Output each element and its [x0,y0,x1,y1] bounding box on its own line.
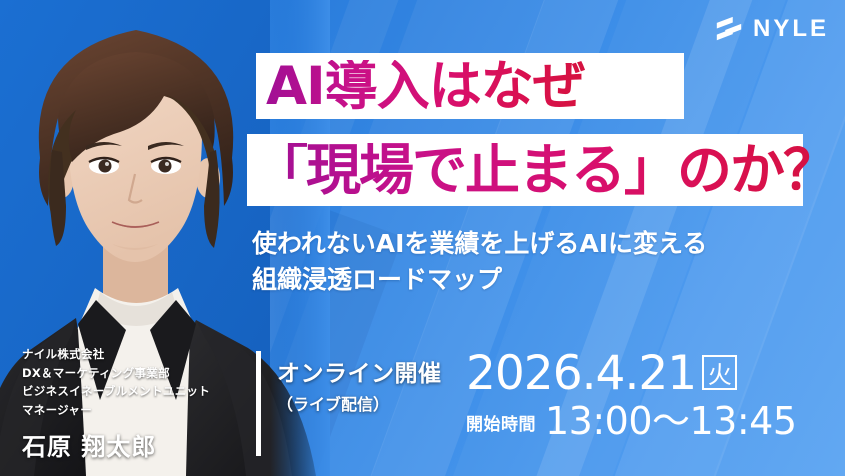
nyle-n-mark-icon [714,14,744,44]
speaker-name: 石原 翔太郎 [22,427,210,462]
speaker-info: ナイル株式会社 DX＆マーケティング事業部 ビジネスイネーブルメントユニット マ… [22,345,210,462]
speaker-division: DX＆マーケティング事業部 [22,364,210,383]
subtitle: 使われないAIを業績を上げるAIに変える 組織浸透ロードマップ [252,226,707,299]
event-datetime: 2026.4.21 火 開始時間 13:00〜13:45 [466,350,797,440]
title-line-1-box: AI導入はなぜ [256,53,684,119]
event-date: 2026.4.21 [466,350,696,397]
event-format-note: （ライブ配信） [277,391,442,415]
title-line-1-text: AI導入はなぜ [256,60,585,113]
subtitle-line-2: 組織浸透ロードマップ [252,262,707,298]
speaker-unit: ビジネスイネーブルメントユニット [22,382,210,401]
event-time-value: 13:00〜13:45 [545,402,797,440]
event-format: オンライン開催 （ライブ配信） [277,362,442,415]
speaker-company: ナイル株式会社 [22,345,210,364]
event-time-row: 開始時間 13:00〜13:45 [466,402,797,440]
subtitle-line-1: 使われないAIを業績を上げるAIに変える [252,226,707,262]
title-line-2-text: 「現場で止まる」のか？ [247,143,836,198]
webinar-banner: NYLE AI導入はなぜ 「現場で止まる」のか？ 使われないAIを業績を上げるA… [0,0,845,476]
event-date-row: 2026.4.21 火 [466,350,797,397]
event-weekday-badge: 火 [702,355,737,390]
title-line-2-box: 「現場で止まる」のか？ [247,134,803,206]
event-time-label: 開始時間 [466,410,536,440]
nyle-logo: NYLE [714,14,829,44]
event-format-main: オンライン開催 [277,362,442,387]
nyle-wordmark: NYLE [753,17,829,41]
speaker-role: マネージャー [22,401,210,420]
vertical-divider [256,351,261,456]
